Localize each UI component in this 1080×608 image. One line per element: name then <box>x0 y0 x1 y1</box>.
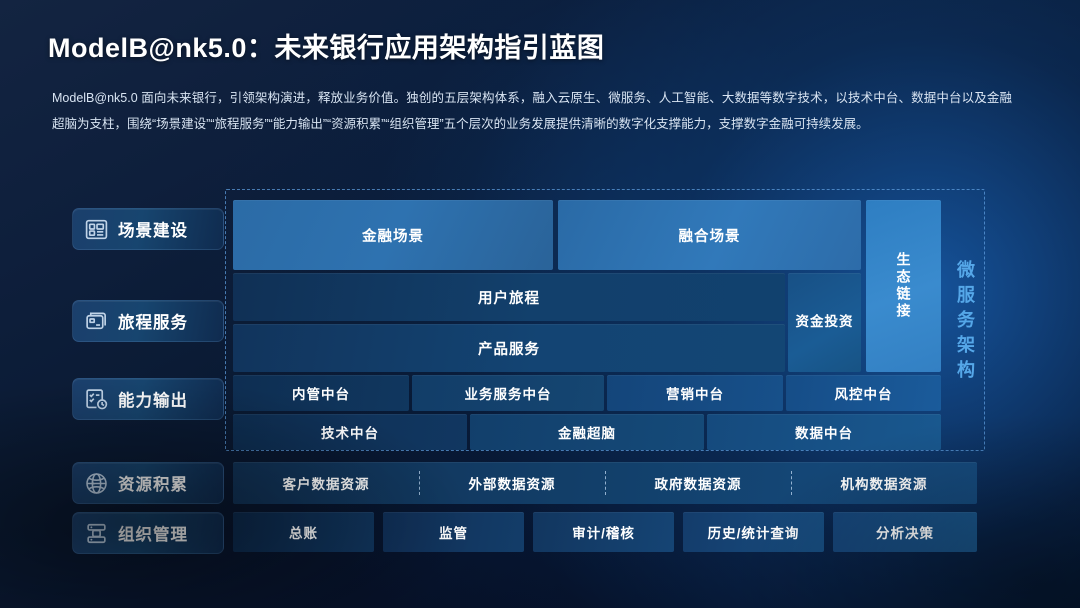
resource-cell-institution-data[interactable]: 机构数据资源 <box>791 462 977 504</box>
side-block-capital-investment[interactable]: 资金投资 <box>788 273 861 372</box>
capability-block-risk-control[interactable]: 风控中台 <box>786 375 941 411</box>
microservice-architecture-label: 微服务架构 <box>948 225 982 420</box>
organization-block-general-ledger[interactable]: 总账 <box>233 512 374 552</box>
sidebar-item-scene-building[interactable]: 场景建设 <box>72 208 224 250</box>
capability-block-financial-brain[interactable]: 金融超脑 <box>470 414 704 450</box>
organization-block-history-query[interactable]: 历史/统计查询 <box>683 512 824 552</box>
sidebar-item-capability-output[interactable]: 能力输出 <box>72 378 224 420</box>
capability-block-technology[interactable]: 技术中台 <box>233 414 467 450</box>
journey-block-product-service[interactable]: 产品服务 <box>233 324 785 372</box>
side-block-vertical-label: 生态链接 <box>897 252 911 320</box>
capability-block-business-service[interactable]: 业务服务中台 <box>412 375 604 411</box>
organization-block-analysis-decision[interactable]: 分析决策 <box>833 512 977 552</box>
page-title: ModelB@nk5.0：未来银行应用架构指引蓝图 <box>48 26 604 65</box>
scene-block-financial[interactable]: 金融场景 <box>233 200 553 270</box>
side-block-line-1: 资金投资 <box>796 314 854 331</box>
card-journey-icon <box>84 309 109 334</box>
checklist-clock-icon <box>84 387 109 412</box>
slide-canvas: ModelB@nk5.0：未来银行应用架构指引蓝图 ModelB@nk5.0 面… <box>0 0 1080 608</box>
sidebar-item-label: 组织管理 <box>118 521 188 545</box>
organization-block-regulation[interactable]: 监管 <box>383 512 524 552</box>
sidebar-item-label: 资源积累 <box>118 471 188 495</box>
dashboard-layout-icon <box>84 217 109 242</box>
resource-cell-customer-data[interactable]: 客户数据资源 <box>233 462 419 504</box>
resource-cell-government-data[interactable]: 政府数据资源 <box>605 462 791 504</box>
capability-block-marketing[interactable]: 营销中台 <box>607 375 783 411</box>
page-description: ModelB@nk5.0 面向未来银行，引领架构演进，释放业务价值。独创的五层架… <box>52 86 1012 137</box>
sidebar-item-organization-management[interactable]: 组织管理 <box>72 512 224 554</box>
organization-block-audit[interactable]: 审计/稽核 <box>533 512 674 552</box>
journey-block-user-journey[interactable]: 用户旅程 <box>233 273 785 321</box>
sidebar-item-resource-accumulation[interactable]: 资源积累 <box>72 462 224 504</box>
capability-block-data[interactable]: 数据中台 <box>707 414 941 450</box>
resource-row: 客户数据资源 外部数据资源 政府数据资源 机构数据资源 <box>233 462 977 504</box>
sidebar-item-label: 场景建设 <box>118 217 188 241</box>
scene-block-integrated[interactable]: 融合场景 <box>558 200 861 270</box>
sidebar-item-label: 旅程服务 <box>118 309 188 333</box>
sidebar-item-label: 能力输出 <box>118 387 188 411</box>
org-hierarchy-icon <box>84 521 109 546</box>
side-block-ecosystem-link[interactable]: 生态链接 <box>866 200 941 372</box>
capability-block-internal-management[interactable]: 内管中台 <box>233 375 409 411</box>
globe-icon <box>84 471 109 496</box>
sidebar-item-journey-service[interactable]: 旅程服务 <box>72 300 224 342</box>
resource-cell-external-data[interactable]: 外部数据资源 <box>419 462 605 504</box>
